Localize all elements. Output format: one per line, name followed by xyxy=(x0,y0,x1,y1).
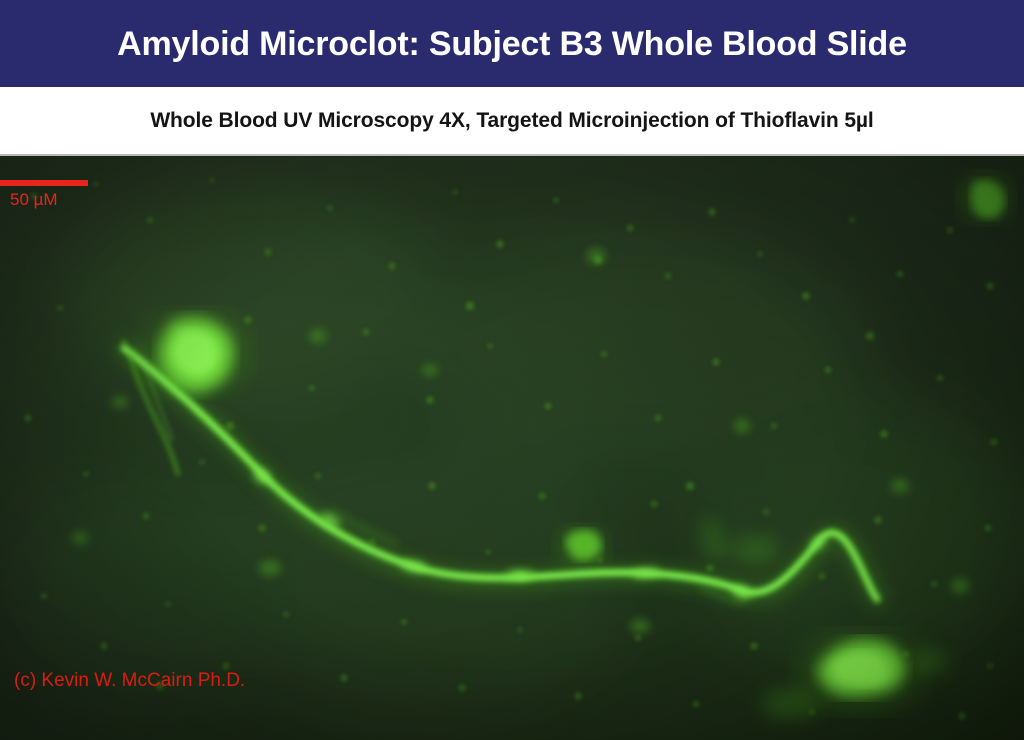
subtitle-caption: Whole Blood UV Microscopy 4X, Targeted M… xyxy=(150,109,873,133)
copyright-notice: (c) Kevin W. McCairn Ph.D. xyxy=(14,671,245,690)
slide-page: Amyloid Microclot: Subject B3 Whole Bloo… xyxy=(0,0,1024,740)
page-title: Amyloid Microclot: Subject B3 Whole Bloo… xyxy=(117,27,907,61)
scale-bar-line xyxy=(0,180,88,186)
micrograph-image: 50 µM (c) Kevin W. McCairn Ph.D. xyxy=(0,156,1024,740)
subtitle-band: Whole Blood UV Microscopy 4X, Targeted M… xyxy=(0,87,1024,154)
scale-bar-label: 50 µM xyxy=(10,191,88,208)
microclot-filament xyxy=(0,156,1024,740)
scale-bar: 50 µM xyxy=(0,180,88,208)
title-banner: Amyloid Microclot: Subject B3 Whole Bloo… xyxy=(0,0,1024,87)
